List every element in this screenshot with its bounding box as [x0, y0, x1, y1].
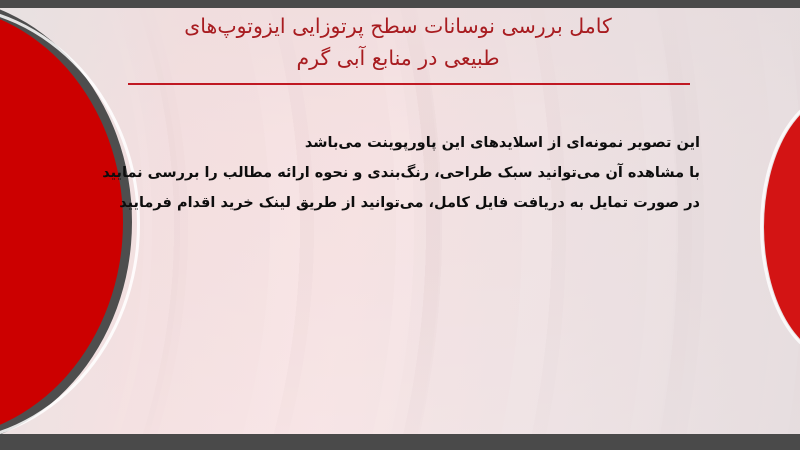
- body-line-3: در صورت تمایل به دریافت فایل کامل، می‌تو…: [100, 188, 700, 218]
- slide-title: کامل بررسی نوسانات سطح پرتوزایی ایزوتوپ‌…: [104, 10, 692, 74]
- slide-frame-top-border: [0, 0, 800, 8]
- presentation-slide: کامل بررسی نوسانات سطح پرتوزایی ایزوتوپ‌…: [0, 0, 800, 450]
- slide-frame-bottom-border: [0, 434, 800, 450]
- title-divider-rule: [128, 83, 690, 85]
- slide-body-text: این تصویر نمونه‌ای از اسلایدهای این پاور…: [100, 128, 700, 218]
- slide-title-line-1: کامل بررسی نوسانات سطح پرتوزایی ایزوتوپ‌…: [104, 10, 692, 42]
- slide-canvas: کامل بررسی نوسانات سطح پرتوزایی ایزوتوپ‌…: [0, 8, 800, 434]
- body-line-2: با مشاهده آن می‌توانید سبک طراحی، رنگ‌بن…: [100, 158, 700, 188]
- body-line-1: این تصویر نمونه‌ای از اسلایدهای این پاور…: [100, 128, 700, 158]
- slide-content: کامل بررسی نوسانات سطح پرتوزایی ایزوتوپ‌…: [0, 8, 800, 434]
- slide-title-line-2: طبیعی در منابع آبی گرم: [104, 42, 692, 74]
